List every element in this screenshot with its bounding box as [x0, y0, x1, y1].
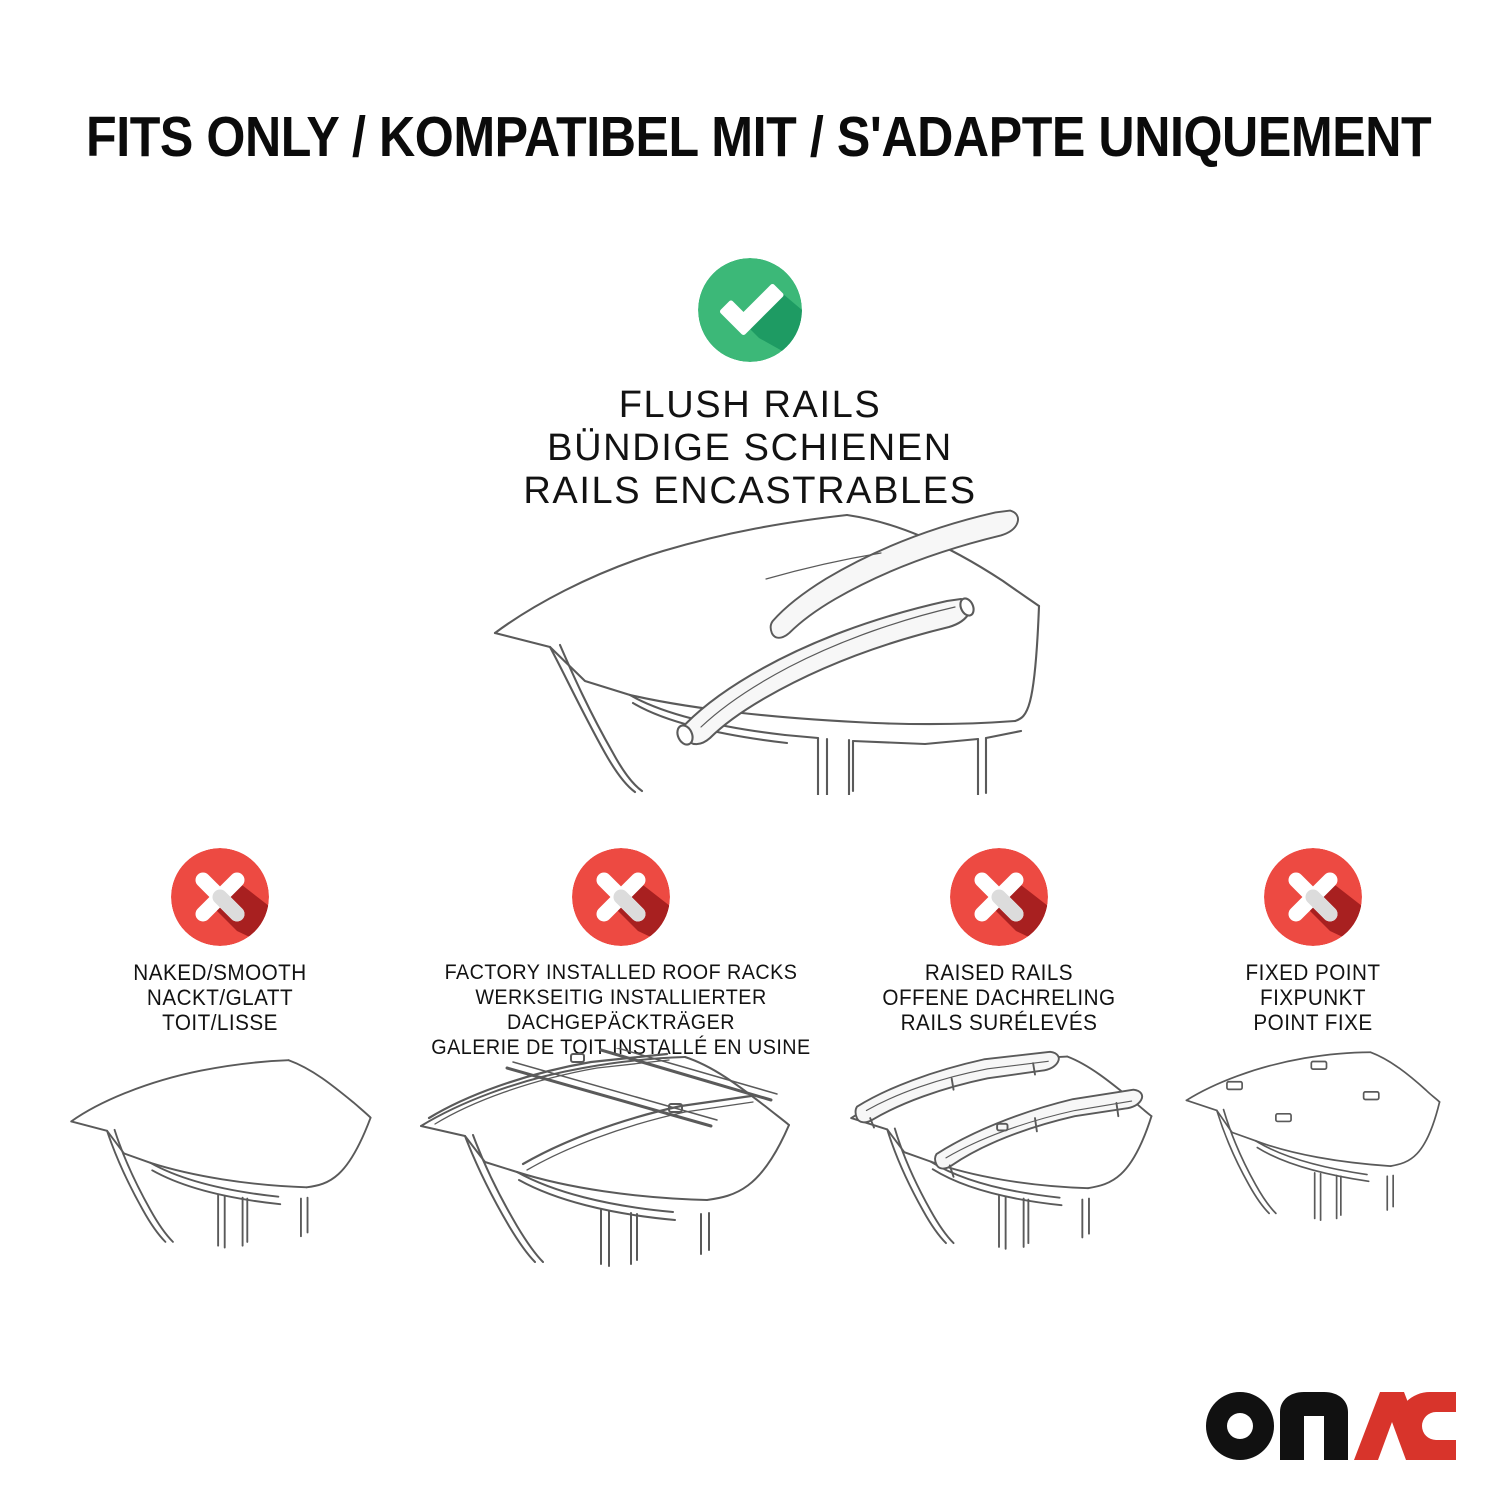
- label-line-de: NACKT/GLATT: [70, 985, 371, 1010]
- car-roof-raised-rails-illustration: [838, 1048, 1160, 1288]
- badge-wrap: [398, 848, 844, 960]
- page-title: FITS ONLY / KOMPATIBEL MIT / S'ADAPTE UN…: [86, 106, 1265, 168]
- flush-rails-roof-illustration: [455, 495, 1055, 795]
- compatible-label-en: FLUSH RAILS: [0, 384, 1500, 427]
- infographic-page: FITS ONLY / KOMPATIBEL MIT / S'ADAPTE UN…: [0, 0, 1500, 1500]
- label-line-de-1: WERKSEITIG INSTALLIERTER: [411, 985, 830, 1010]
- cross-circle-icon: [950, 848, 1048, 946]
- cross-circle-icon: [1264, 848, 1362, 946]
- cross-circle-icon: [572, 848, 670, 946]
- label-line-en: RAISED RAILS: [848, 960, 1151, 985]
- compatible-section: FLUSH RAILS BÜNDIGE SCHIENEN RAILS ENCAS…: [0, 258, 1500, 513]
- label-line-en: NAKED/SMOOTH: [70, 960, 371, 985]
- car-roof-bare-illustration: [60, 1048, 380, 1288]
- label-line-en: FIXED POINT: [1186, 960, 1440, 985]
- badge-wrap: [1178, 848, 1448, 960]
- incompatible-item-fixed-point: FIXED POINT FIXPUNKT POINT FIXE: [1178, 848, 1448, 1035]
- label-line-fr: TOIT/LISSE: [70, 1010, 371, 1035]
- incompatible-labels: FACTORY INSTALLED ROOF RACKS WERKSEITIG …: [411, 960, 830, 1060]
- label-line-fr: RAILS SURÉLEVÉS: [848, 1010, 1151, 1035]
- car-roof-factory-crossbars-illustration: [398, 1048, 844, 1288]
- incompatible-labels: FIXED POINT FIXPUNKT POINT FIXE: [1186, 960, 1440, 1035]
- badge-wrap: [60, 848, 380, 960]
- label-line-fr: POINT FIXE: [1186, 1010, 1440, 1035]
- incompatible-item-raised-rails: RAISED RAILS OFFENE DACHRELING RAILS SUR…: [838, 848, 1160, 1035]
- label-line-de: OFFENE DACHRELING: [848, 985, 1151, 1010]
- car-roof-fixed-points-illustration: [1178, 1048, 1448, 1288]
- label-line-de: FIXPUNKT: [1186, 985, 1440, 1010]
- check-circle-icon: [698, 258, 802, 362]
- label-line-en: FACTORY INSTALLED ROOF RACKS: [411, 960, 830, 985]
- badge-wrap: [838, 848, 1160, 960]
- incompatible-item-factory-roof-racks: FACTORY INSTALLED ROOF RACKS WERKSEITIG …: [398, 848, 844, 1060]
- incompatible-labels: NAKED/SMOOTH NACKT/GLATT TOIT/LISSE: [70, 960, 371, 1035]
- compatible-label-de: BÜNDIGE SCHIENEN: [0, 427, 1500, 470]
- incompatible-labels: RAISED RAILS OFFENE DACHRELING RAILS SUR…: [848, 960, 1151, 1035]
- omac-logo: OMAC: [1204, 1386, 1456, 1472]
- incompatible-item-naked-smooth: NAKED/SMOOTH NACKT/GLATT TOIT/LISSE: [60, 848, 380, 1035]
- cross-circle-icon: [171, 848, 269, 946]
- compatible-labels: FLUSH RAILS BÜNDIGE SCHIENEN RAILS ENCAS…: [0, 384, 1500, 513]
- label-line-de-2: DACHGEPÄCKTRÄGER: [411, 1010, 830, 1035]
